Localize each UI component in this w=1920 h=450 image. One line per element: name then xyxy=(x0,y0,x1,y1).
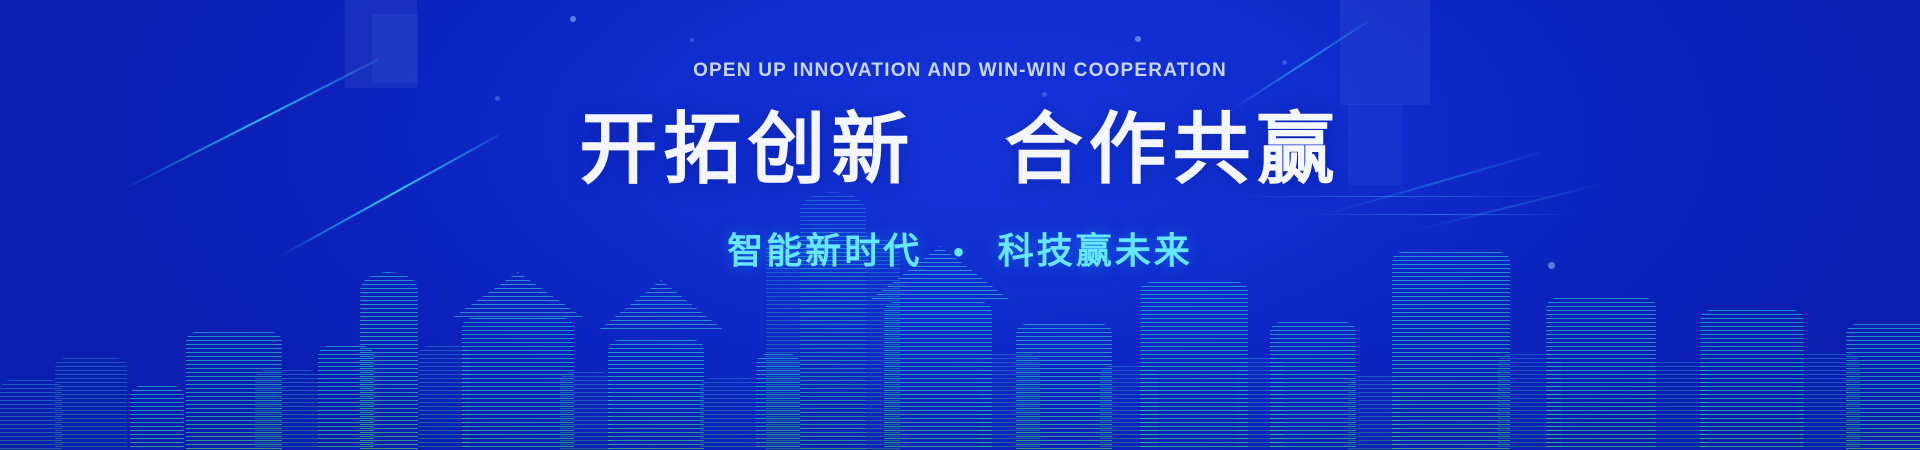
bld-19 xyxy=(1140,282,1248,450)
bld-21 xyxy=(1270,322,1356,450)
hero-banner: OPEN UP INNOVATION AND WIN-WIN COOPERATI… xyxy=(0,0,1920,450)
bld-02 xyxy=(130,386,184,450)
bld-10 xyxy=(608,340,704,450)
banner-eyebrow-text: OPEN UP INNOVATION AND WIN-WIN COOPERATI… xyxy=(0,60,1920,82)
banner-headline: 开拓创新 合作共赢 xyxy=(0,110,1920,188)
bld-23 xyxy=(1392,252,1510,450)
bld-15 xyxy=(884,302,992,450)
banner-content: OPEN UP INNOVATION AND WIN-WIN COOPERATI… xyxy=(0,0,1920,274)
bld-27 xyxy=(1700,310,1804,450)
bld-29 xyxy=(1846,324,1920,450)
bld-09 xyxy=(560,372,612,450)
bld-04 xyxy=(255,370,319,450)
bld-01 xyxy=(55,358,127,450)
roof-center xyxy=(596,280,726,332)
bld-08 xyxy=(462,318,574,450)
roof-left xyxy=(452,272,584,318)
subtitle-separator-dot: • xyxy=(953,236,967,270)
bld-30 xyxy=(0,380,62,450)
bld-25 xyxy=(1546,298,1656,450)
bld-06 xyxy=(360,272,418,450)
headline-phrase-right: 合作共赢 xyxy=(1005,105,1341,193)
subtitle-phrase-left: 智能新时代 xyxy=(727,230,922,271)
subtitle-phrase-right: 科技赢未来 xyxy=(998,230,1193,271)
headline-phrase-left: 开拓创新 xyxy=(579,105,915,193)
banner-subtitle: 智能新时代 • 科技赢未来 xyxy=(0,222,1920,274)
bld-17 xyxy=(1016,324,1112,450)
bld-11 xyxy=(700,378,758,450)
